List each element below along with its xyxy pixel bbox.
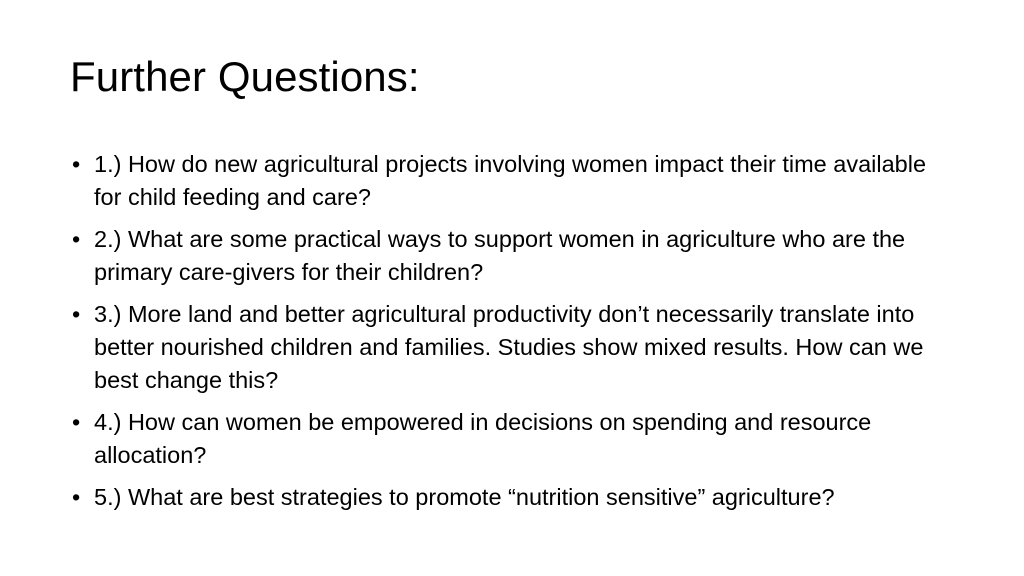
list-item: • 3.) More land and better agricultural …	[70, 298, 948, 397]
list-item: • 4.) How can women be empowered in deci…	[70, 406, 948, 472]
list-item-text: 5.) What are best strategies to promote …	[94, 481, 948, 514]
bullet-dot-icon: •	[72, 481, 88, 514]
list-item-text: 4.) How can women be empowered in decisi…	[94, 406, 948, 472]
bullet-dot-icon: •	[72, 148, 88, 181]
bullet-dot-icon: •	[72, 298, 88, 331]
list-item: • 1.) How do new agricultural projects i…	[70, 148, 948, 214]
slide-canvas: Further Questions: • 1.) How do new agri…	[0, 0, 1024, 576]
page-title: Further Questions:	[70, 52, 960, 102]
list-item: • 5.) What are best strategies to promot…	[70, 481, 948, 514]
bullet-dot-icon: •	[72, 406, 88, 439]
list-item-text: 1.) How do new agricultural projects inv…	[94, 148, 948, 214]
list-item-text: 2.) What are some practical ways to supp…	[94, 223, 948, 289]
list-item: • 2.) What are some practical ways to su…	[70, 223, 948, 289]
bullet-dot-icon: •	[72, 223, 88, 256]
questions-list: • 1.) How do new agricultural projects i…	[70, 148, 948, 514]
list-item-text: 3.) More land and better agricultural pr…	[94, 298, 948, 397]
